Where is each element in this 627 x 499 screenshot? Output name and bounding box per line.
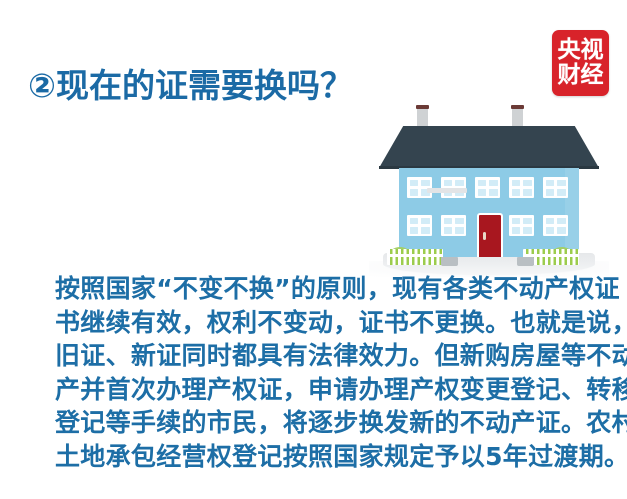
window-pane: [489, 189, 498, 196]
page-title: ②现在的证需要换吗？: [28, 66, 353, 106]
chimney-right-icon: [512, 108, 523, 127]
window-pane: [421, 218, 430, 225]
window-pane: [478, 180, 487, 187]
window-lower-1: [407, 215, 432, 236]
cctv-finance-logo: 央视 财经: [552, 30, 609, 96]
window-pane: [557, 227, 566, 234]
front-door: [477, 213, 503, 257]
body-line: 登记等手续的市民，将逐步换发新的不动产证。农村: [55, 406, 580, 440]
window-pane: [455, 180, 464, 187]
window-pane: [455, 227, 464, 234]
window-pane: [523, 227, 532, 234]
window-pane: [444, 218, 453, 225]
planter-left: [441, 257, 458, 266]
body-line: 书继续有效，权利不变动，证书不更换。也就是说，: [55, 306, 580, 340]
window-lower-2: [441, 215, 466, 236]
window-pane: [557, 189, 566, 196]
house-illustration: [355, 100, 620, 275]
window-pane: [557, 218, 566, 225]
window-pane: [512, 180, 521, 187]
window-upper-3: [475, 177, 500, 198]
window-pane: [410, 180, 419, 187]
planter-right: [517, 257, 534, 266]
window-upper-4: [509, 177, 534, 198]
window-pane: [478, 189, 487, 196]
chimney-left-icon: [417, 108, 428, 127]
window-lower-3: [509, 215, 534, 236]
window-pane: [410, 227, 419, 234]
window-pane: [455, 218, 464, 225]
window-pane: [523, 218, 532, 225]
window-pane: [444, 227, 453, 234]
picket-fence-left: [387, 249, 443, 265]
window-pane: [523, 180, 532, 187]
window-pane: [546, 180, 555, 187]
window-pane: [489, 180, 498, 187]
logo-line-one: 央视: [558, 38, 604, 63]
window-pane: [546, 189, 555, 196]
window-pane: [410, 189, 419, 196]
window-pane: [410, 218, 419, 225]
body-line: 土地承包经营权登记按照国家规定予以5年过渡期。: [55, 440, 580, 474]
window-pane: [421, 227, 430, 234]
window-pane: [512, 227, 521, 234]
door-handle-icon: [483, 232, 486, 240]
window-lower-4: [543, 215, 568, 236]
body-line: 按照国家“不变不换”的原则，现有各类不动产权证: [55, 272, 580, 306]
window-pane: [546, 227, 555, 234]
window-upper-5: [543, 177, 568, 198]
window-pane: [512, 218, 521, 225]
window-pane: [444, 180, 453, 187]
house-roof: [379, 126, 599, 168]
body-line: 产并首次办理产权证，申请办理产权变更登记、转移: [55, 373, 580, 407]
window-pane: [512, 189, 521, 196]
infographic-page: 央视 财经 ②现在的证需要换吗？: [0, 0, 627, 499]
window-pane: [523, 189, 532, 196]
body-paragraph: 按照国家“不变不换”的原则，现有各类不动产权证 书继续有效，权利不变动，证书不更…: [55, 272, 580, 473]
logo-line-two: 财经: [558, 63, 604, 88]
house-walls: [399, 168, 579, 257]
window-pane: [557, 180, 566, 187]
body-line: 旧证、新证同时都具有法律效力。但新购房屋等不动: [55, 339, 580, 373]
door-step: [427, 188, 467, 193]
window-pane: [546, 218, 555, 225]
window-pane: [421, 180, 430, 187]
